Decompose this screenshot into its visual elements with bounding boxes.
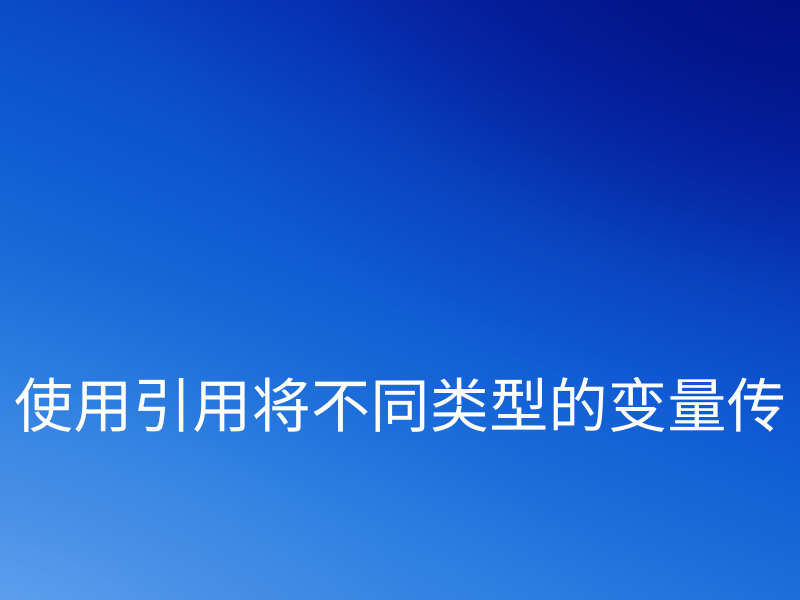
- headline-line-1: 使用引用将不同类型的变量传: [14, 368, 800, 446]
- headline-text-block: 使用引用将不同类型的变量传 递给统一可变参数: [14, 212, 800, 600]
- banner-background: 使用引用将不同类型的变量传 递给统一可变参数: [0, 0, 800, 600]
